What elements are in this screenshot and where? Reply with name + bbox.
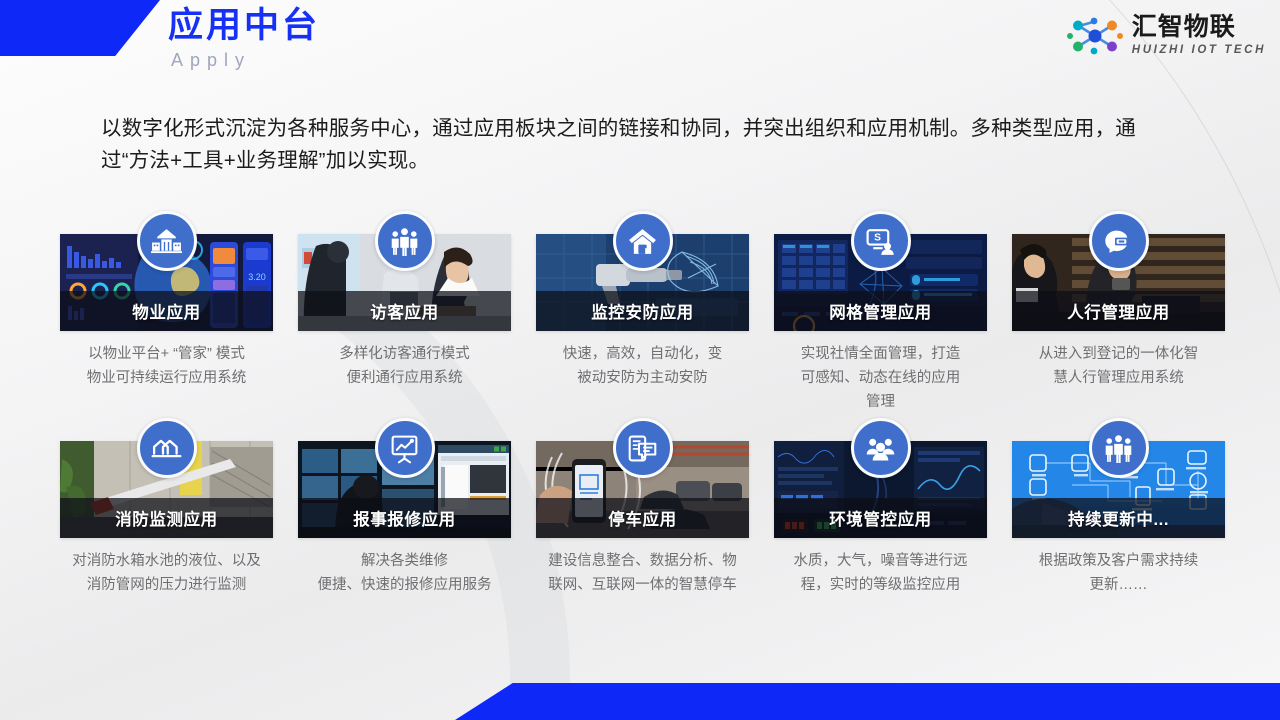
brand-name-cn: 汇智物联 — [1132, 14, 1266, 41]
card-title-bar: 环境管控应用 — [774, 498, 987, 538]
people-group-icon[interactable] — [375, 211, 435, 271]
application-card[interactable]: 消防监测应用对消防水箱水池的液位、以及消防管网的压力进行监测 — [60, 441, 273, 597]
card-description: 实现社情全面管理，打造可感知、动态在线的应用管理 — [774, 342, 987, 414]
brand-name-en: HUIZHI IOT TECH — [1132, 43, 1266, 58]
chart-board-icon[interactable] — [375, 418, 435, 478]
card-title-bar: 网格管理应用 — [774, 291, 987, 331]
card-title: 访客应用 — [370, 299, 438, 323]
card-title-bar: 物业应用 — [60, 291, 273, 331]
card-title: 持续更新中... — [1068, 506, 1169, 530]
fire-roofs-icon[interactable] — [137, 418, 197, 478]
card-description: 对消防水箱水池的液位、以及消防管网的压力进行监测 — [60, 549, 273, 597]
card-title: 网格管理应用 — [829, 299, 932, 323]
brand-text: 汇智物联 HUIZHI IOT TECH — [1132, 14, 1266, 58]
card-title: 监控安防应用 — [591, 299, 694, 323]
card-title-bar: 监控安防应用 — [536, 291, 749, 331]
page-header: 应用中台 Apply — [0, 0, 1280, 86]
application-card[interactable]: 网格管理应用S实现社情全面管理，打造可感知、动态在线的应用管理 — [774, 234, 987, 414]
molecule-network-icon — [1067, 14, 1123, 58]
application-card[interactable]: 报事报修应用解决各类维修便捷、快速的报修应用服务 — [298, 441, 511, 597]
card-description: 快速，高效，自动化，变被动安防为主动安防 — [536, 342, 749, 390]
card-title: 消防监测应用 — [115, 506, 218, 530]
card-title-bar: 消防监测应用 — [60, 498, 273, 538]
card-description: 从进入到登记的一体化智慧人行管理应用系统 — [1012, 342, 1225, 390]
brand-logo: 汇智物联 HUIZHI IOT TECH — [1067, 14, 1266, 58]
card-description: 根据政策及客户需求持续更新…… — [1012, 549, 1225, 597]
svg-text:3.20: 3.20 — [248, 272, 266, 282]
house-community-icon[interactable] — [137, 211, 197, 271]
card-title: 停车应用 — [608, 506, 676, 530]
card-title: 人行管理应用 — [1067, 299, 1170, 323]
page-title-block: 应用中台 Apply — [168, 4, 320, 71]
header-accent-shape — [0, 0, 160, 56]
application-card-grid: 3.20 物业应用以物业平台+ “管家” 模式物业可持续运行应用系统 访客应用多… — [60, 234, 1225, 597]
application-card[interactable]: 环境管控应用水质，大气，噪音等进行远程，实时的等级监控应用 — [774, 441, 987, 597]
application-card[interactable]: 访客应用多样化访客通行模式便利通行应用系统 — [298, 234, 511, 414]
intro-paragraph: 以数字化形式沉淀为各种服务中心，通过应用板块之间的链接和协同，并突出组织和应用机… — [101, 113, 1176, 177]
card-description: 水质，大气，噪音等进行远程，实时的等级监控应用 — [774, 549, 987, 597]
card-title-bar: 持续更新中... — [1012, 498, 1225, 538]
page-subtitle: Apply — [171, 49, 320, 71]
card-description: 以物业平台+ “管家” 模式物业可持续运行应用系统 — [60, 342, 273, 390]
card-title: 物业应用 — [132, 299, 200, 323]
card-title-bar: 人行管理应用 — [1012, 291, 1225, 331]
card-title: 报事报修应用 — [353, 506, 456, 530]
three-people-icon[interactable] — [851, 418, 911, 478]
application-card[interactable]: 3.20 物业应用以物业平台+ “管家” 模式物业可持续运行应用系统 — [60, 234, 273, 414]
card-row-2: 消防监测应用对消防水箱水池的液位、以及消防管网的压力进行监测 报事报修应用解决各… — [60, 441, 1225, 597]
svg-text:S: S — [874, 232, 881, 243]
card-title: 环境管控应用 — [829, 506, 932, 530]
card-title-bar: 报事报修应用 — [298, 498, 511, 538]
people-group-icon[interactable] — [1089, 418, 1149, 478]
card-title-bar: 访客应用 — [298, 291, 511, 331]
card-description: 多样化访客通行模式便利通行应用系统 — [298, 342, 511, 390]
mobile-chat-icon[interactable] — [613, 418, 673, 478]
screen-user-icon[interactable]: S — [851, 211, 911, 271]
face-scan-icon[interactable] — [1089, 211, 1149, 271]
card-description: 解决各类维修便捷、快速的报修应用服务 — [298, 549, 511, 597]
application-card[interactable]: 监控安防应用快速，高效，自动化，变被动安防为主动安防 — [536, 234, 749, 414]
application-card[interactable]: 人行管理应用从进入到登记的一体化智慧人行管理应用系统 — [1012, 234, 1225, 414]
card-row-1: 3.20 物业应用以物业平台+ “管家” 模式物业可持续运行应用系统 访客应用多… — [60, 234, 1225, 414]
footer-accent-bar — [455, 683, 1280, 720]
application-card[interactable]: 持续更新中...根据政策及客户需求持续更新…… — [1012, 441, 1225, 597]
page-title: 应用中台 — [168, 4, 320, 48]
card-title-bar: 停车应用 — [536, 498, 749, 538]
application-card[interactable]: 停车应用建设信息整合、数据分析、物联网、互联网一体的智慧停车 — [536, 441, 749, 597]
card-description: 建设信息整合、数据分析、物联网、互联网一体的智慧停车 — [536, 549, 749, 597]
house-monitor-icon[interactable] — [613, 211, 673, 271]
